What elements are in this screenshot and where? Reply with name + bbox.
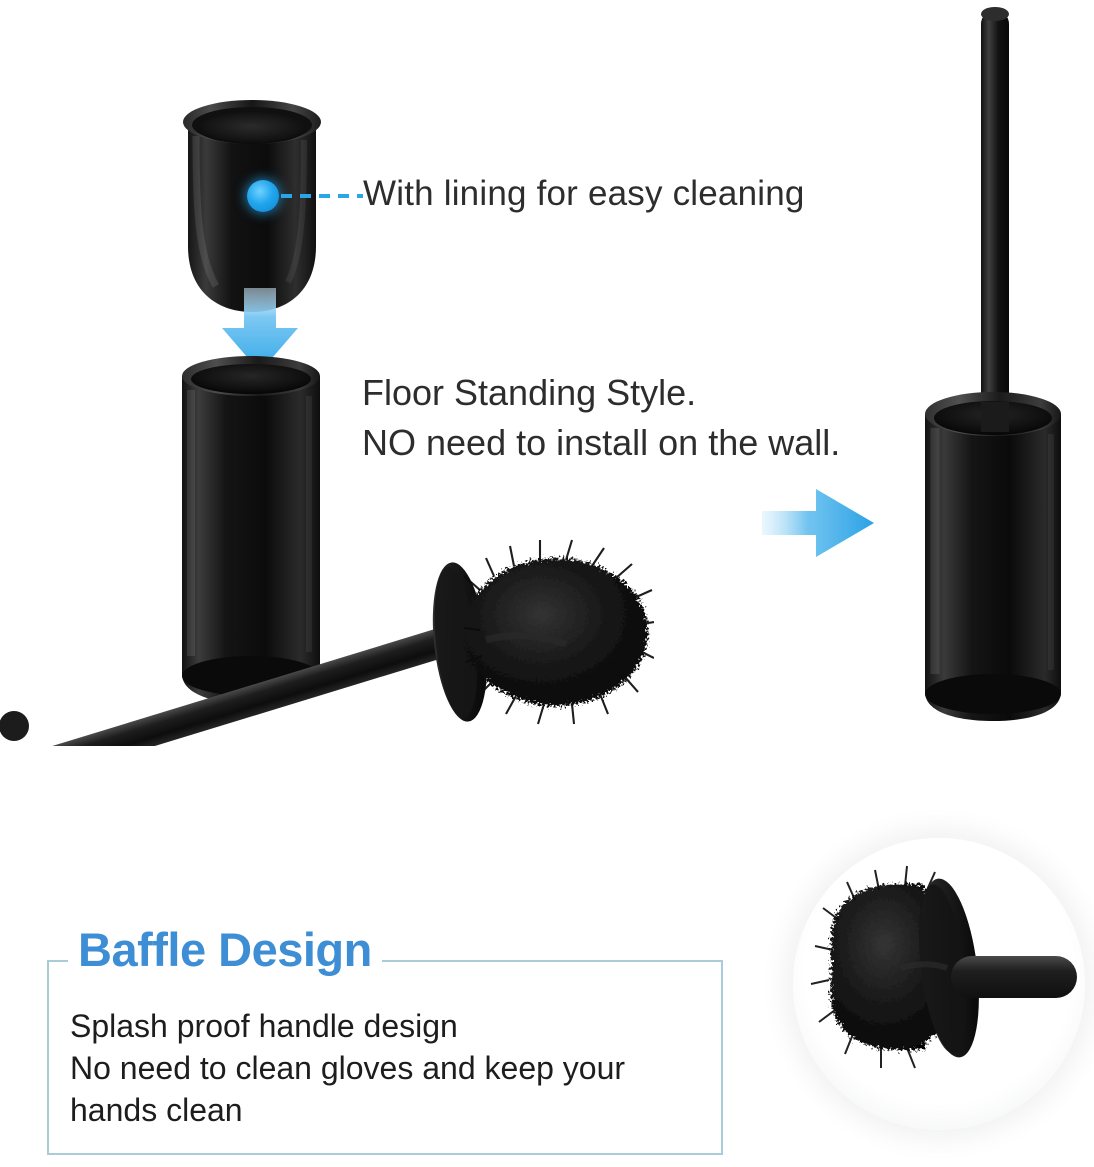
baffle-design-body: Splash proof handle design No need to cl… xyxy=(70,1005,710,1131)
lining-leader-line xyxy=(281,194,363,198)
lining-marker-dot xyxy=(247,180,279,212)
baffle-body-line1: Splash proof handle design xyxy=(70,1005,710,1047)
assembled-brush-and-holder xyxy=(905,2,1081,732)
floor-standing-line1: Floor Standing Style. xyxy=(362,368,840,418)
floor-standing-callout: Floor Standing Style. NO need to install… xyxy=(362,368,840,468)
baffle-design-title: Baffle Design xyxy=(68,922,382,978)
baffle-body-line3: hands clean xyxy=(70,1089,710,1131)
lining-callout-label: With lining for easy cleaning xyxy=(363,176,805,211)
baffle-closeup-circle xyxy=(793,838,1085,1130)
product-infographic-page: With lining for easy cleaning xyxy=(0,0,1094,1167)
brush-art xyxy=(0,520,654,746)
right-arrow-icon xyxy=(762,487,874,559)
baffle-closeup-art xyxy=(793,838,1085,1130)
toilet-brush-with-baffle xyxy=(0,520,654,746)
floor-standing-line2: NO need to install on the wall. xyxy=(362,418,840,468)
assembled-art xyxy=(905,2,1081,732)
baffle-body-line2: No need to clean gloves and keep your xyxy=(70,1047,710,1089)
